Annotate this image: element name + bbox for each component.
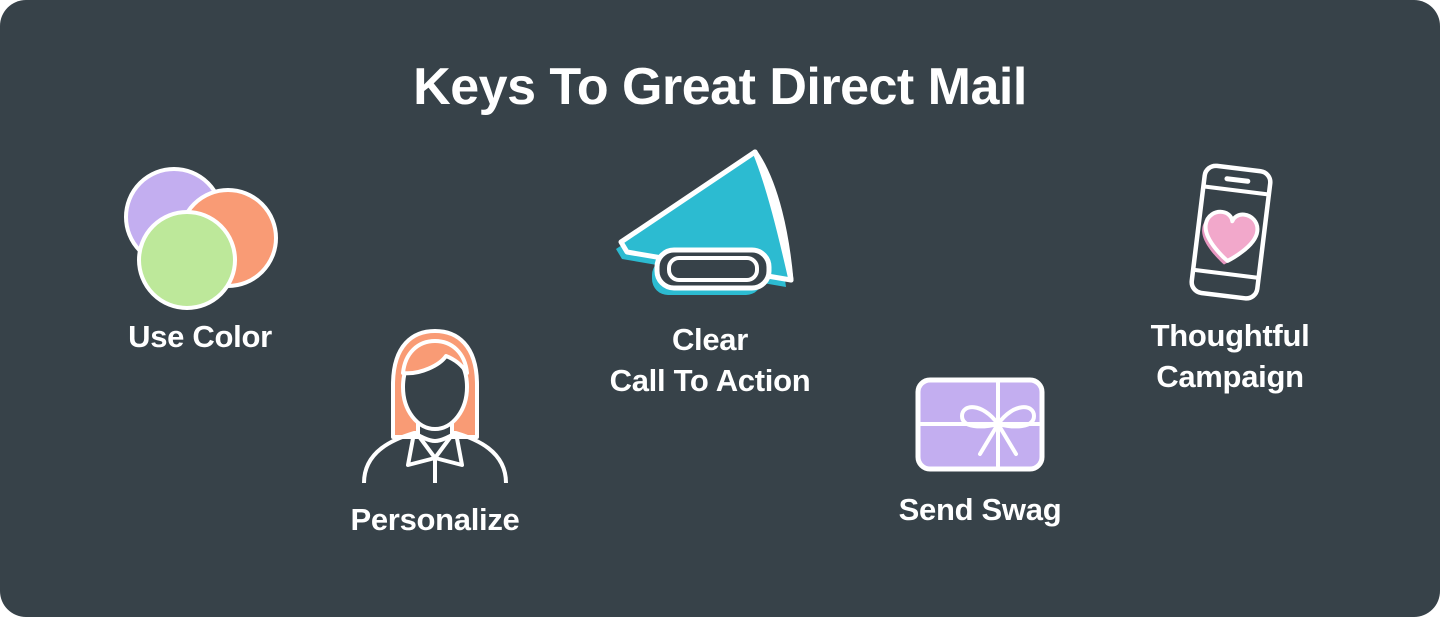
item-use-color-label: Use Color [60,316,340,357]
campaign-icon-wrap [1100,160,1360,305]
item-personalize-label: Personalize [300,499,570,540]
item-clear-call-to-action: Clear Call To Action [570,140,850,401]
gift-box-icon [910,372,1050,477]
item-personalize: Personalize [300,325,570,540]
item-send-swag: Send Swag [840,372,1120,530]
phone-with-heart-icon [1160,160,1300,305]
three-overlapping-circles-icon [110,160,290,310]
use-color-icon-wrap [60,160,340,310]
item-thoughtful-campaign: Thoughtful Campaign [1100,160,1360,397]
item-campaign-label: Thoughtful Campaign [1100,315,1360,397]
personalize-icon-wrap [300,325,570,485]
item-cta-label: Clear Call To Action [570,319,850,401]
item-use-color: Use Color [60,160,340,357]
megaphone-icon [605,140,815,305]
send-swag-icon-wrap [840,372,1120,477]
item-send-swag-label: Send Swag [840,489,1120,530]
infographic-poster: Keys To Great Direct Mail Use Color [0,0,1440,617]
person-avatar-icon [350,325,520,485]
page-title: Keys To Great Direct Mail [0,60,1440,115]
cta-icon-wrap [570,140,850,305]
